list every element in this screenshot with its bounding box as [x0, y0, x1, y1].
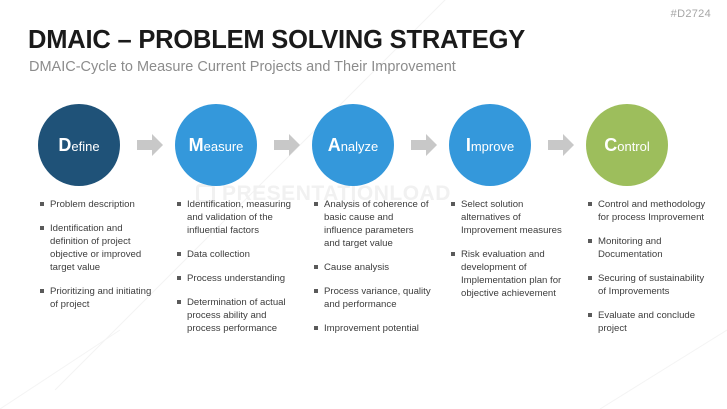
- list-item: Monitoring and Documentation: [588, 235, 706, 261]
- list-item-label: Control and methodology for process Impr…: [598, 198, 706, 224]
- stage-circle-define[interactable]: Define: [38, 104, 120, 186]
- list-item-label: Cause analysis: [324, 261, 432, 274]
- list-item: Problem description: [40, 198, 158, 211]
- arrow-improve-to-control: [548, 134, 574, 156]
- stage-label-define: Define: [58, 136, 99, 154]
- list-item: Analysis of coherence of basic cause and…: [314, 198, 432, 250]
- stage-initial-analyze: A: [328, 135, 341, 155]
- bullet-columns: Problem descriptionIdentification and de…: [0, 198, 727, 358]
- slide-canvas: PRESENTATIONLOAD #D2724 DMAIC – PROBLEM …: [0, 0, 727, 409]
- bullet-column-improve: Select solution alternatives of Improvem…: [451, 198, 569, 311]
- arrow-measure-to-analyze: [274, 134, 300, 156]
- list-item: Control and methodology for process Impr…: [588, 198, 706, 224]
- stage-rest-measure: easure: [204, 139, 244, 154]
- stage-label-analyze: Analyze: [328, 136, 379, 154]
- list-item-label: Evaluate and conclude project: [598, 309, 706, 335]
- arrow-analyze-to-improve: [411, 134, 437, 156]
- list-item-label: Select solution alternatives of Improvem…: [461, 198, 569, 237]
- bullet-square-icon: [588, 239, 592, 243]
- list-item-label: Improvement potential: [324, 322, 432, 335]
- list-item-label: Determination of actual process ability …: [187, 296, 295, 335]
- list-item-label: Data collection: [187, 248, 295, 261]
- list-item-label: Identification and definition of project…: [50, 222, 158, 274]
- stage-circle-analyze[interactable]: Analyze: [312, 104, 394, 186]
- bullet-square-icon: [451, 202, 455, 206]
- bullet-square-icon: [588, 313, 592, 317]
- stage-circle-improve[interactable]: Improve: [449, 104, 531, 186]
- list-item: Determination of actual process ability …: [177, 296, 295, 335]
- list-item: Improvement potential: [314, 322, 432, 335]
- bullet-column-measure: Identification, measuring and validation…: [177, 198, 295, 346]
- list-item: Process understanding: [177, 272, 295, 285]
- bullet-column-define: Problem descriptionIdentification and de…: [40, 198, 158, 322]
- list-item: Select solution alternatives of Improvem…: [451, 198, 569, 237]
- list-item: Process variance, quality and performanc…: [314, 285, 432, 311]
- stage-rest-improve: mprove: [471, 139, 514, 154]
- list-item: Risk evaluation and development of Imple…: [451, 248, 569, 300]
- page-title: DMAIC – PROBLEM SOLVING STRATEGY: [28, 26, 525, 55]
- list-item-label: Prioritizing and initiating of project: [50, 285, 158, 311]
- list-item-label: Process variance, quality and performanc…: [324, 285, 432, 311]
- list-item-label: Securing of sustainability of Improvemen…: [598, 272, 706, 298]
- bullet-square-icon: [177, 202, 181, 206]
- stage-rest-analyze: nalyze: [341, 139, 379, 154]
- page-subtitle: DMAIC-Cycle to Measure Current Projects …: [29, 59, 456, 75]
- stage-circle-measure[interactable]: Measure: [175, 104, 257, 186]
- stage-label-improve: Improve: [466, 136, 514, 154]
- bullet-square-icon: [40, 226, 44, 230]
- list-item-label: Analysis of coherence of basic cause and…: [324, 198, 432, 250]
- list-item-label: Problem description: [50, 198, 158, 211]
- bullet-square-icon: [314, 326, 318, 330]
- stage-label-measure: Measure: [189, 136, 244, 154]
- list-item: Data collection: [177, 248, 295, 261]
- stage-circle-control[interactable]: Control: [586, 104, 668, 186]
- bullet-square-icon: [40, 202, 44, 206]
- bullet-square-icon: [314, 265, 318, 269]
- bullet-square-icon: [177, 276, 181, 280]
- list-item-label: Risk evaluation and development of Imple…: [461, 248, 569, 300]
- list-item: Identification and definition of project…: [40, 222, 158, 274]
- list-item-label: Monitoring and Documentation: [598, 235, 706, 261]
- list-item-label: Process understanding: [187, 272, 295, 285]
- stage-label-control: Control: [604, 136, 650, 154]
- bullet-square-icon: [177, 252, 181, 256]
- bullet-column-analyze: Analysis of coherence of basic cause and…: [314, 198, 432, 346]
- arrow-define-to-measure: [137, 134, 163, 156]
- bullet-square-icon: [314, 289, 318, 293]
- bullet-square-icon: [588, 276, 592, 280]
- bullet-square-icon: [451, 252, 455, 256]
- bullet-square-icon: [314, 202, 318, 206]
- stage-rest-define: efine: [71, 139, 99, 154]
- stage-initial-define: D: [58, 135, 71, 155]
- list-item: Securing of sustainability of Improvemen…: [588, 272, 706, 298]
- list-item-label: Identification, measuring and validation…: [187, 198, 295, 237]
- bullet-column-control: Control and methodology for process Impr…: [588, 198, 706, 346]
- list-item: Identification, measuring and validation…: [177, 198, 295, 237]
- list-item: Cause analysis: [314, 261, 432, 274]
- stage-row: DefineMeasureAnalyzeImproveControl: [0, 104, 727, 188]
- document-code: #D2724: [671, 8, 711, 20]
- stage-initial-control: C: [604, 135, 617, 155]
- bullet-square-icon: [177, 300, 181, 304]
- list-item: Prioritizing and initiating of project: [40, 285, 158, 311]
- bullet-square-icon: [588, 202, 592, 206]
- list-item: Evaluate and conclude project: [588, 309, 706, 335]
- stage-initial-measure: M: [189, 135, 204, 155]
- bullet-square-icon: [40, 289, 44, 293]
- stage-rest-control: ontrol: [617, 139, 650, 154]
